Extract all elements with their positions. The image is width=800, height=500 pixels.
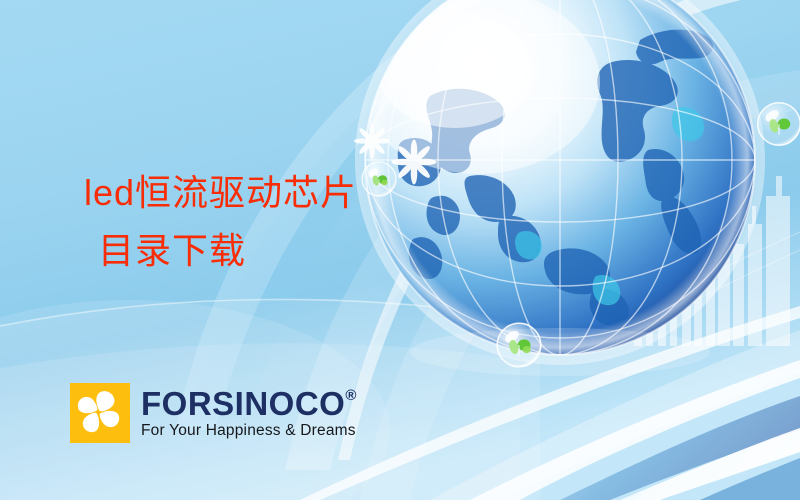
promo-banner: led恒流驱动芯片 目录下载 FORSINOCO ® For Your Happ… — [0, 0, 800, 500]
headline-line-1: led恒流驱动芯片 — [84, 166, 357, 220]
bubble-leaf-icon — [758, 103, 800, 146]
bubble-leaf-icon — [362, 162, 396, 196]
headline-line-2: 目录下载 — [98, 224, 357, 278]
brand-wordmark: FORSINOCO ® — [141, 387, 357, 420]
forsinoco-petal-icon — [70, 383, 130, 443]
bubble-leaf-icon — [497, 323, 541, 367]
page-title: led恒流驱动芯片 目录下载 — [84, 166, 357, 278]
registered-mark: ® — [345, 388, 357, 403]
brand-name: FORSINOCO — [141, 387, 345, 420]
brand-tagline: For Your Happiness & Dreams — [141, 422, 357, 439]
brand-logo: FORSINOCO ® For Your Happiness & Dreams — [70, 383, 357, 443]
